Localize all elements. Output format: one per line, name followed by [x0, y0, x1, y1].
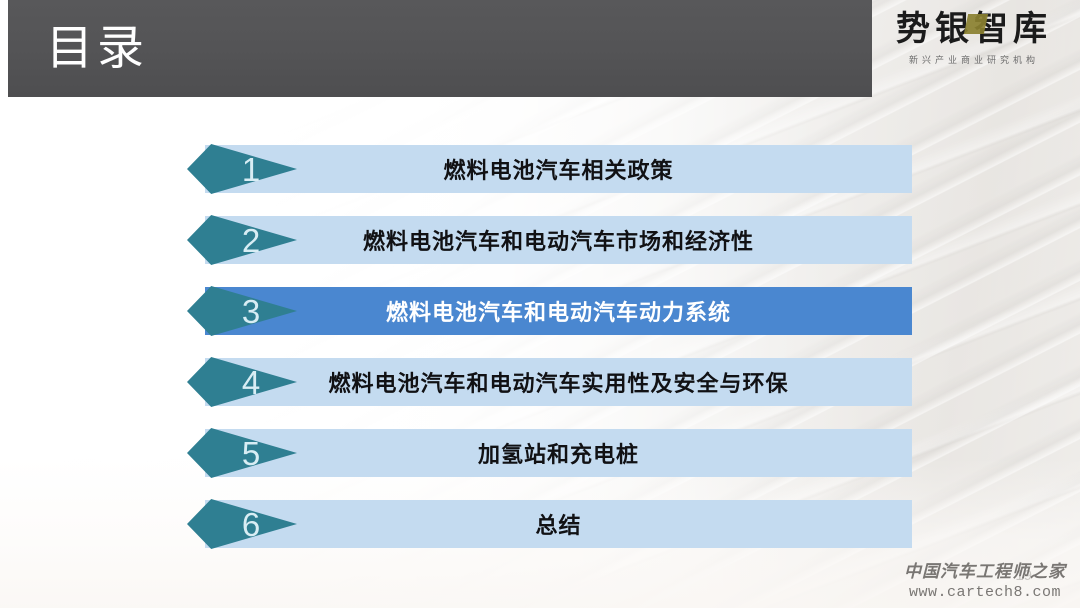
toc-item-label: 燃料电池汽车和电动汽车实用性及安全与环保 — [205, 358, 912, 406]
toc-row[interactable]: 燃料电池汽车和电动汽车市场和经济性 2 — [0, 216, 1080, 264]
toc-row-active[interactable]: 燃料电池汽车和电动汽车动力系统 3 — [0, 287, 1080, 335]
brand-subtitle: 新兴产业商业研究机构 — [874, 54, 1074, 66]
toc-item-label: 燃料电池汽车和电动汽车动力系统 — [205, 287, 912, 335]
brand-logo: 势银智库 新兴产业商业研究机构 — [874, 8, 1074, 66]
toc-row[interactable]: 燃料电池汽车和电动汽车实用性及安全与环保 4 — [0, 358, 1080, 406]
toc-item-label: 总结 — [205, 500, 912, 548]
watermark-url: www.cartech8.com — [904, 583, 1066, 602]
toc-row[interactable]: 总结 6 — [0, 500, 1080, 548]
header-bar: 目录 — [8, 0, 872, 97]
toc-row[interactable]: 加氢站和充电桩 5 — [0, 429, 1080, 477]
toc-row[interactable]: 燃料电池汽车相关政策 1 — [0, 145, 1080, 193]
slide-canvas: 目录 势银智库 新兴产业商业研究机构 燃料电池汽车相关政策 1 燃料电池汽车和电… — [0, 0, 1080, 608]
watermark: 中国汽车工程师之家 www.cartech8.com — [904, 561, 1066, 602]
toc-item-label: 燃料电池汽车相关政策 — [205, 145, 912, 193]
brand-name-wrapper: 势银智库 — [874, 8, 1074, 50]
toc-item-label: 燃料电池汽车和电动汽车市场和经济性 — [205, 216, 912, 264]
table-of-contents: 燃料电池汽车相关政策 1 燃料电池汽车和电动汽车市场和经济性 2 燃料电池汽车和… — [0, 145, 1080, 571]
page-title: 目录 — [46, 18, 148, 78]
brand-accent-mark-icon — [964, 14, 988, 34]
watermark-site-name: 中国汽车工程师之家 — [904, 561, 1066, 583]
toc-item-label: 加氢站和充电桩 — [205, 429, 912, 477]
